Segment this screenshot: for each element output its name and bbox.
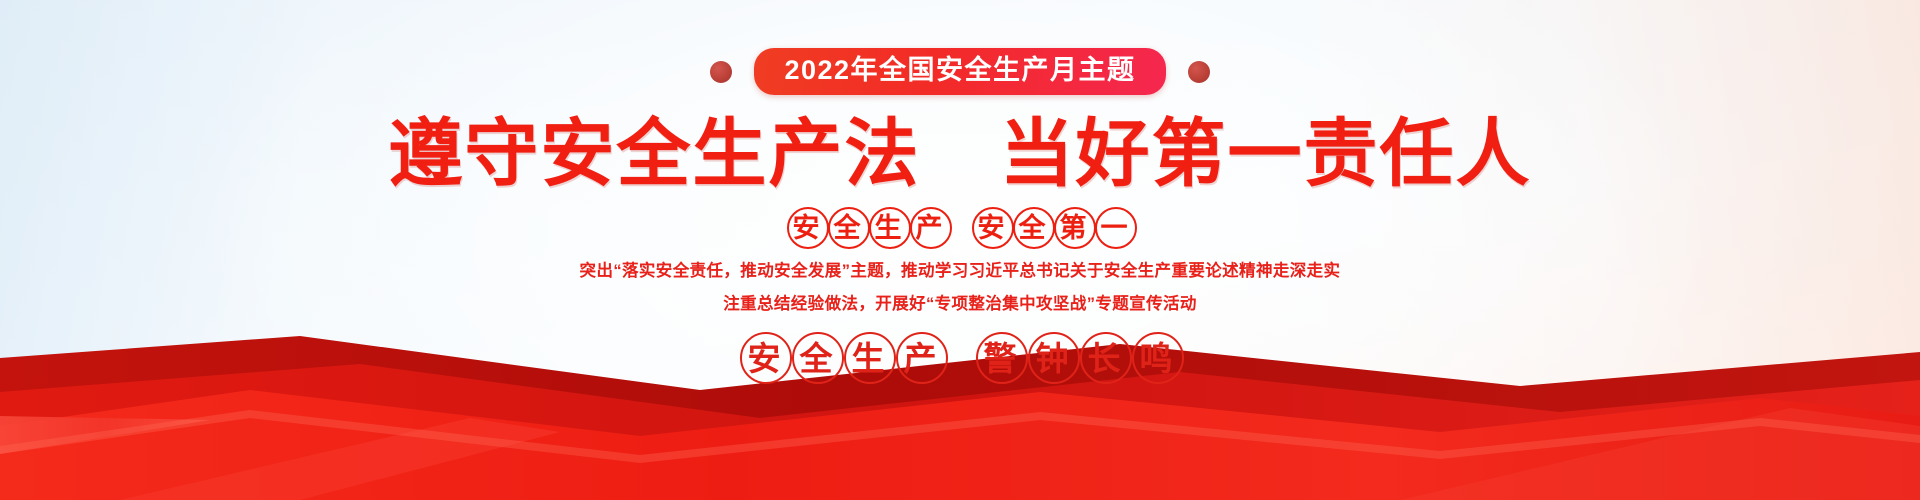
sub-headline-circled: 安 全 生 产 安 全 第 一	[786, 206, 1134, 246]
slogan-char: 生	[843, 331, 893, 381]
subhead-char: 全	[827, 206, 867, 246]
badge-dot-left-icon	[710, 61, 732, 83]
slogan-char: 警	[975, 331, 1025, 381]
subhead-char: 产	[909, 206, 949, 246]
slogan-char: 安	[739, 331, 789, 381]
subhead-char: 安	[786, 206, 826, 246]
description-line-2: 注重总结经验做法，开展好“专项整治集中攻坚战”专题宣传活动	[723, 295, 1197, 315]
headline-part-1: 遵守安全生产法	[388, 112, 920, 195]
theme-badge-row: 2022年全国安全生产月主题	[710, 48, 1209, 95]
subhead-char: 生	[868, 206, 908, 246]
subhead-char: 一	[1094, 206, 1134, 246]
badge-dot-right-icon	[1188, 61, 1210, 83]
description-line-1: 突出“落实安全责任，推动安全发展”主题，推动学习习近平总书记关于安全生产重要论述…	[580, 262, 1341, 282]
slogan-char: 钟	[1027, 331, 1077, 381]
subhead-char: 全	[1012, 206, 1052, 246]
bottom-slogan-circled: 安 全 生 产 警 钟 长 鸣	[739, 331, 1181, 381]
slogan-char: 产	[895, 331, 945, 381]
safety-production-banner: 2022年全国安全生产月主题 遵守安全生产法 当好第一责任人 安 全 生 产 安…	[0, 0, 1920, 500]
banner-content: 2022年全国安全生产月主题 遵守安全生产法 当好第一责任人 安 全 生 产 安…	[0, 0, 1920, 500]
slogan-char: 鸣	[1131, 331, 1181, 381]
theme-badge-label: 2022年全国安全生产月主题	[754, 48, 1165, 95]
subhead-char: 安	[971, 206, 1011, 246]
headline-part-2: 当好第一责任人	[1000, 112, 1532, 195]
slogan-char: 长	[1079, 331, 1129, 381]
main-headline: 遵守安全生产法 当好第一责任人	[388, 113, 1531, 196]
subhead-char: 第	[1053, 206, 1093, 246]
slogan-char: 全	[791, 331, 841, 381]
